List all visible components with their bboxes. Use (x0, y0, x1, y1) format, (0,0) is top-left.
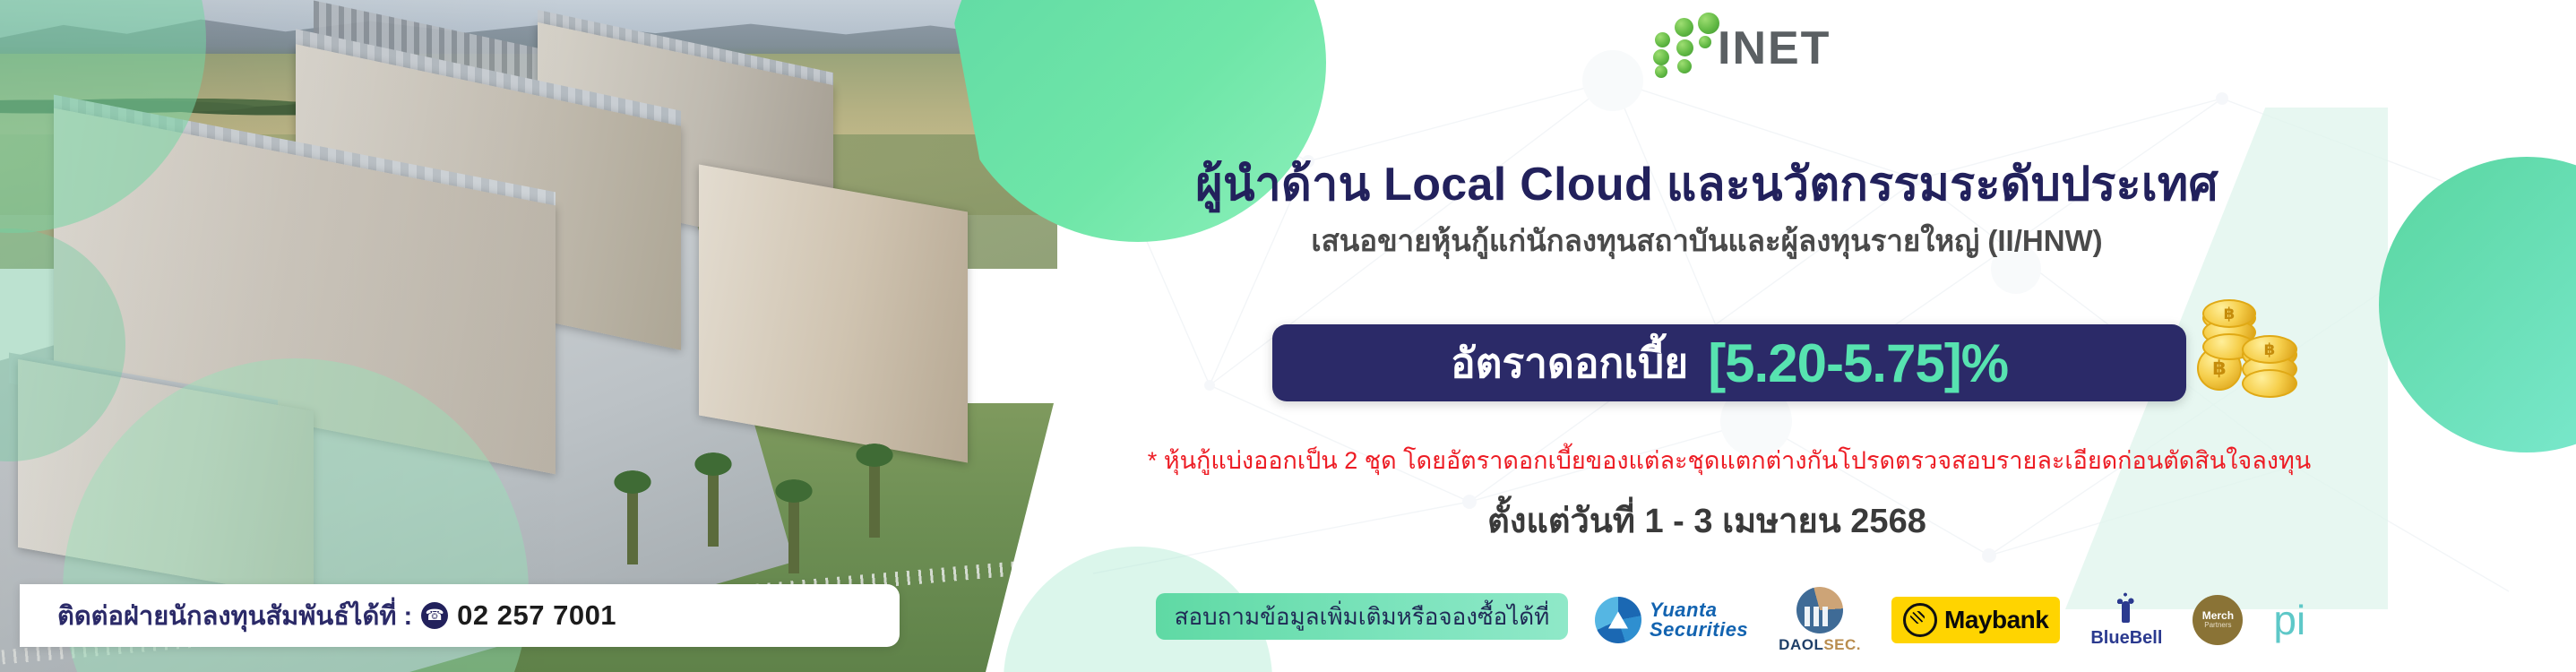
pi-logo-icon: pi (2273, 602, 2305, 638)
inet-bond-offering-banner: INET ผู้นำด้าน Local Cloud และนวัตกรรมระ… (0, 0, 2576, 672)
subheadline: เสนอขายหุ้นกู้แก่นักลงทุนสถาบันและผู้ลงท… (1169, 217, 2244, 264)
maybank-wordmark: Maybank (1944, 606, 2048, 634)
bluebell-deer-icon (2111, 592, 2141, 626)
photo-shading (0, 0, 1057, 672)
broker-merchant-partners[interactable]: Merch Partners (2193, 595, 2243, 645)
yuanta-star-icon (1595, 597, 1641, 643)
yuanta-line-2: Securities (1650, 620, 1748, 640)
maybank-tiger-icon (1903, 603, 1937, 637)
disclaimer-text: * หุ้นกู้แบ่งออกเป็น 2 ชุด โดยอัตราดอกเบ… (1102, 441, 2356, 479)
broker-daol-sec[interactable]: DAOLSEC. (1779, 587, 1861, 654)
broker-yuanta-securities[interactable]: Yuanta Securities (1595, 597, 1748, 643)
interest-rate-label: อัตราดอกเบี้ย (1451, 331, 1688, 396)
broker-bluebell[interactable]: BlueBell (2090, 592, 2162, 649)
phone-icon: ☎ (421, 602, 448, 629)
daol-text-main: DAOL (1779, 636, 1823, 653)
contact-phone-number[interactable]: 02 257 7001 (457, 599, 616, 632)
inet-wordmark: INET (1718, 25, 1831, 72)
page-title: ผู้นำด้าน Local Cloud และนวัตกรรมระดับปร… (1169, 146, 2244, 220)
bluebell-wordmark: BlueBell (2090, 628, 2162, 649)
gold-coin-stack-icon: ฿ ฿ ฿ ฿ ฿ (2193, 299, 2301, 405)
broker-maybank[interactable]: Maybank (1891, 597, 2060, 643)
data-center-aerial-photo (0, 0, 1057, 672)
inet-logo[interactable]: INET (1653, 13, 1922, 77)
offering-date-range: ตั้งแต่วันที่ 1 - 3 เมษายน 2568 (1169, 493, 2244, 547)
merchant-line-2: Partners (2204, 621, 2231, 630)
contact-label: ติดต่อฝ่ายนักลงทุนสัมพันธ์ได้ที่ : (57, 595, 412, 636)
merchant-line-1: Merch (2202, 610, 2234, 621)
investor-relations-contact-bar: ติดต่อฝ่ายนักลงทุนสัมพันธ์ได้ที่ : ☎ 02 … (20, 584, 900, 647)
interest-rate-value: [5.20-5.75]% (1708, 332, 2008, 394)
daol-text-accent: SEC. (1823, 636, 1861, 653)
interest-rate-box: อัตราดอกเบี้ย [5.20-5.75]% (1272, 324, 2186, 401)
inet-green-dots-logo-icon (1653, 13, 1719, 77)
cta-button[interactable]: สอบถามข้อมูลเพิ่มเติมหรือจองซื้อได้ที่ (1156, 593, 1568, 640)
yuanta-line-1: Yuanta (1650, 600, 1748, 620)
broker-pi[interactable]: pi (2273, 602, 2305, 638)
broker-logo-row: Yuanta Securities DAOLSEC. Maybank BlueB… (1595, 584, 2545, 656)
daol-circle-icon (1796, 587, 1843, 633)
